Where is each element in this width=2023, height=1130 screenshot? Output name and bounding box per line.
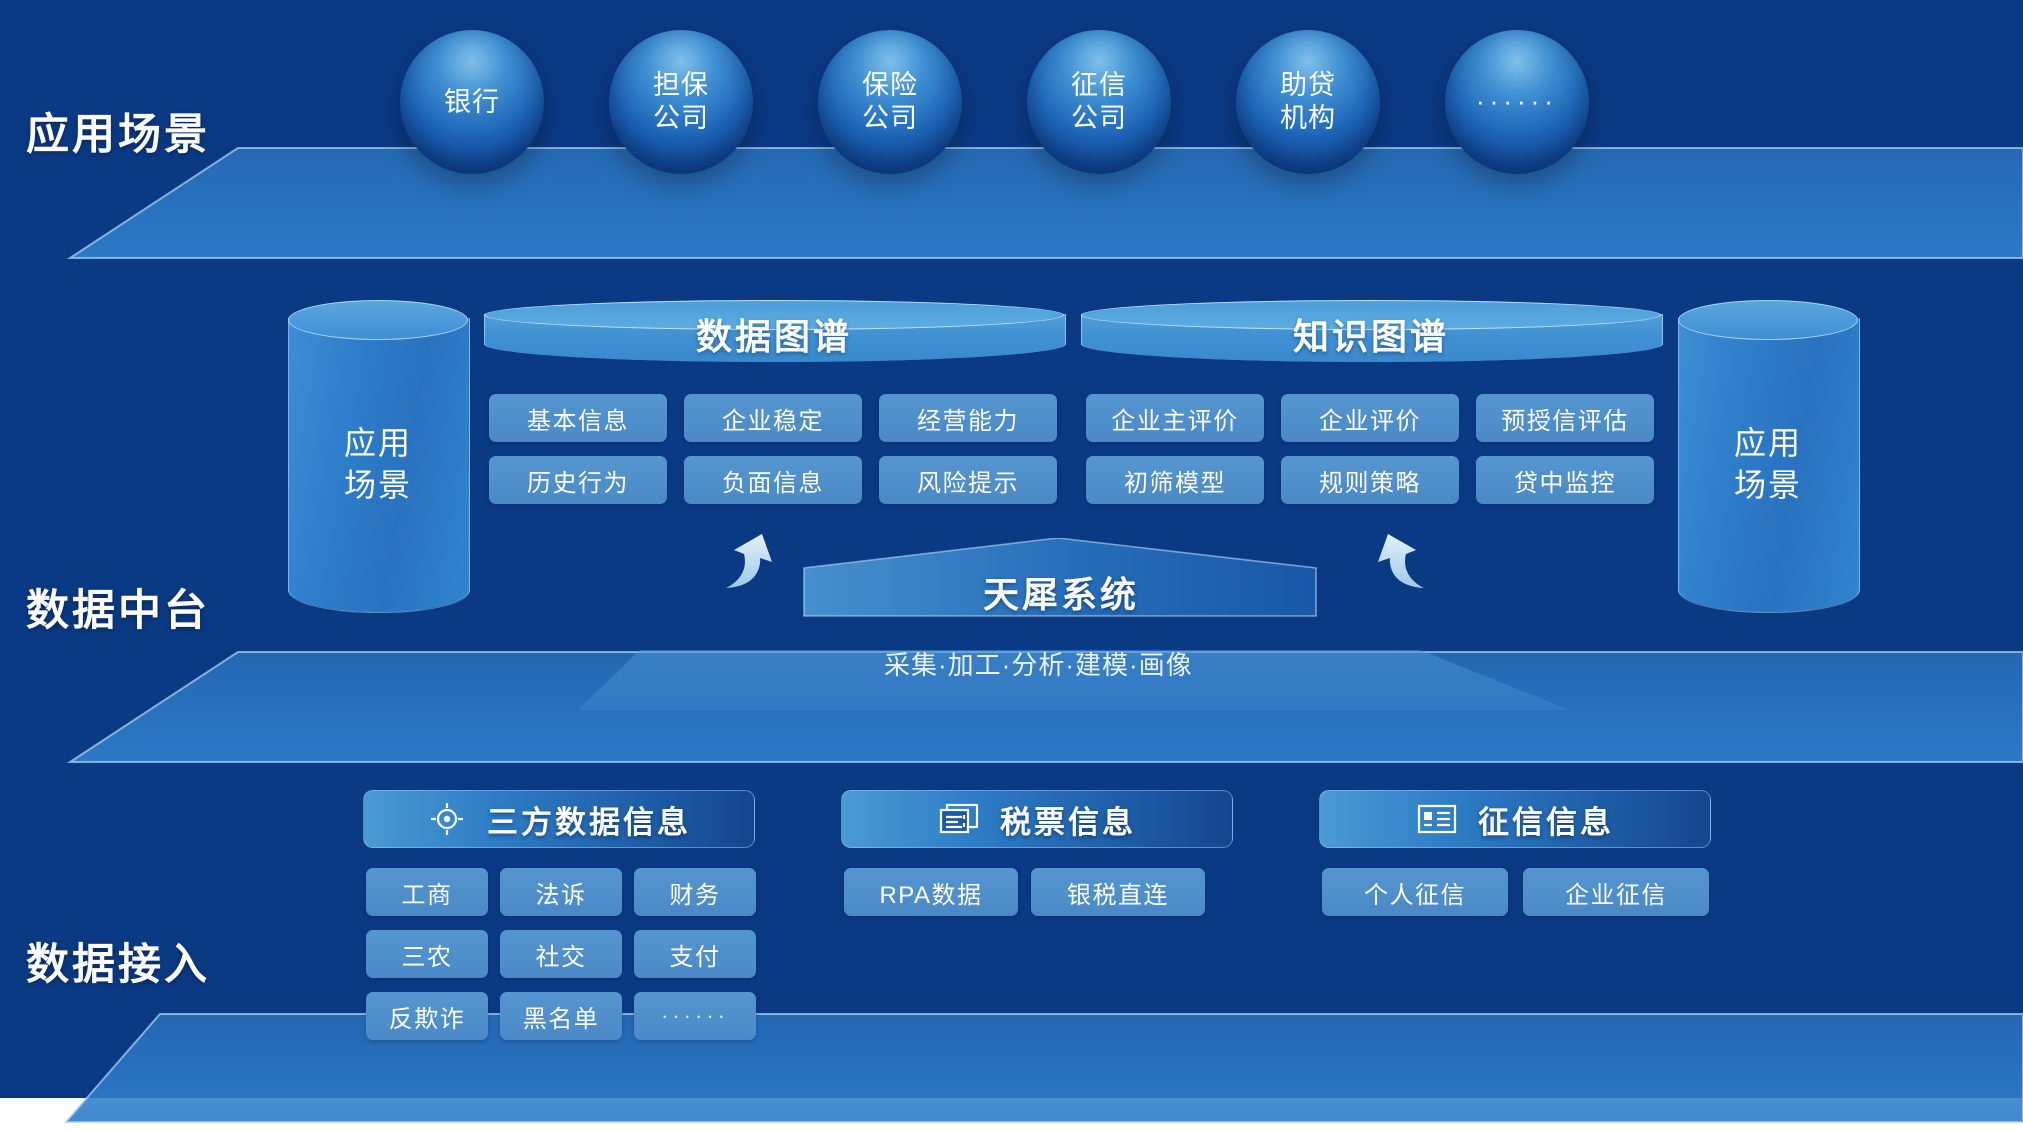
sphere-more[interactable]: ······ xyxy=(1445,30,1589,174)
chip-data-graph-2[interactable]: 经营能力 xyxy=(879,394,1057,442)
source-header-third-party-data[interactable]: 三方数据信息 xyxy=(363,790,755,848)
section-label-data-middle-platform: 数据中台 xyxy=(26,576,210,638)
chip-knowledge-graph-1[interactable]: 企业评价 xyxy=(1281,394,1459,442)
disc-knowledge-graph[interactable]: 知识图谱 xyxy=(1081,300,1661,368)
architecture-diagram: 应用场景 数据中台 数据接入 银行 担保 公司 保险 公司 征信 公司 助贷 机… xyxy=(0,0,2023,1130)
chip-third-party-0[interactable]: 工商 xyxy=(366,868,488,916)
target-icon xyxy=(427,799,467,839)
section-label-application-scenarios: 应用场景 xyxy=(26,100,210,162)
system-title: 天犀系统 xyxy=(806,566,1316,618)
chip-data-graph-0[interactable]: 基本信息 xyxy=(489,394,667,442)
sphere-label: ······ xyxy=(1476,86,1558,118)
bottom-platform xyxy=(0,1012,2023,1130)
sphere-label: 助贷 机构 xyxy=(1280,69,1336,135)
chip-data-graph-1[interactable]: 企业稳定 xyxy=(684,394,862,442)
chip-data-graph-3[interactable]: 历史行为 xyxy=(489,456,667,504)
disc-title: 知识图谱 xyxy=(1081,300,1661,368)
chip-knowledge-graph-0[interactable]: 企业主评价 xyxy=(1086,394,1264,442)
sphere-label: 保险 公司 xyxy=(862,69,918,135)
chip-third-party-2[interactable]: 财务 xyxy=(634,868,756,916)
sphere-loan-assistance-institution[interactable]: 助贷 机构 xyxy=(1236,30,1380,174)
chip-third-party-3[interactable]: 三农 xyxy=(366,930,488,978)
sphere-bank[interactable]: 银行 xyxy=(400,30,544,174)
disc-data-graph[interactable]: 数据图谱 xyxy=(484,300,1064,368)
cylinder-application-scenario-left[interactable]: 应用 场景 xyxy=(288,300,468,630)
chip-tax-0[interactable]: RPA数据 xyxy=(844,868,1018,916)
chip-tax-1[interactable]: 银税直连 xyxy=(1031,868,1205,916)
chip-credit-0[interactable]: 个人征信 xyxy=(1322,868,1508,916)
source-header-credit-report-data[interactable]: 征信信息 xyxy=(1319,790,1711,848)
source-header-tax-invoice-data[interactable]: 税票信息 xyxy=(841,790,1233,848)
disc-title: 数据图谱 xyxy=(484,300,1064,368)
cylinder-label: 应用 场景 xyxy=(288,300,468,630)
id-card-icon xyxy=(1416,803,1458,835)
chip-third-party-6[interactable]: 反欺诈 xyxy=(366,992,488,1040)
sphere-insurance-company[interactable]: 保险 公司 xyxy=(818,30,962,174)
arrow-up-right-icon xyxy=(1330,528,1440,629)
invoice-icon xyxy=(938,802,980,836)
source-header-label: 征信信息 xyxy=(1478,797,1614,842)
chip-knowledge-graph-4[interactable]: 规则策略 xyxy=(1281,456,1459,504)
chip-third-party-8[interactable]: ······ xyxy=(634,992,756,1040)
cylinder-label: 应用 场景 xyxy=(1678,300,1858,630)
source-header-label: 三方数据信息 xyxy=(487,797,691,842)
chip-data-graph-5[interactable]: 风险提示 xyxy=(879,456,1057,504)
chip-data-graph-4[interactable]: 负面信息 xyxy=(684,456,862,504)
sphere-credit-reporting-company[interactable]: 征信 公司 xyxy=(1027,30,1171,174)
chip-third-party-7[interactable]: 黑名单 xyxy=(500,992,622,1040)
top-platform xyxy=(0,146,2023,268)
sphere-label: 担保 公司 xyxy=(653,69,709,135)
source-header-label: 税票信息 xyxy=(1000,797,1136,842)
chip-knowledge-graph-5[interactable]: 贷中监控 xyxy=(1476,456,1654,504)
chip-third-party-4[interactable]: 社交 xyxy=(500,930,622,978)
sphere-label: 征信 公司 xyxy=(1071,69,1127,135)
chip-credit-1[interactable]: 企业征信 xyxy=(1523,868,1709,916)
sphere-label: 银行 xyxy=(444,86,500,119)
section-label-data-access: 数据接入 xyxy=(26,930,210,992)
chip-knowledge-graph-3[interactable]: 初筛模型 xyxy=(1086,456,1264,504)
system-subtitle: 采集·加工·分析·建模·画像 xyxy=(884,645,1193,682)
chip-third-party-1[interactable]: 法诉 xyxy=(500,868,622,916)
sphere-guarantee-company[interactable]: 担保 公司 xyxy=(609,30,753,174)
chip-knowledge-graph-2[interactable]: 预授信评估 xyxy=(1476,394,1654,442)
chip-third-party-5[interactable]: 支付 xyxy=(634,930,756,978)
cylinder-application-scenario-right[interactable]: 应用 场景 xyxy=(1678,300,1858,630)
